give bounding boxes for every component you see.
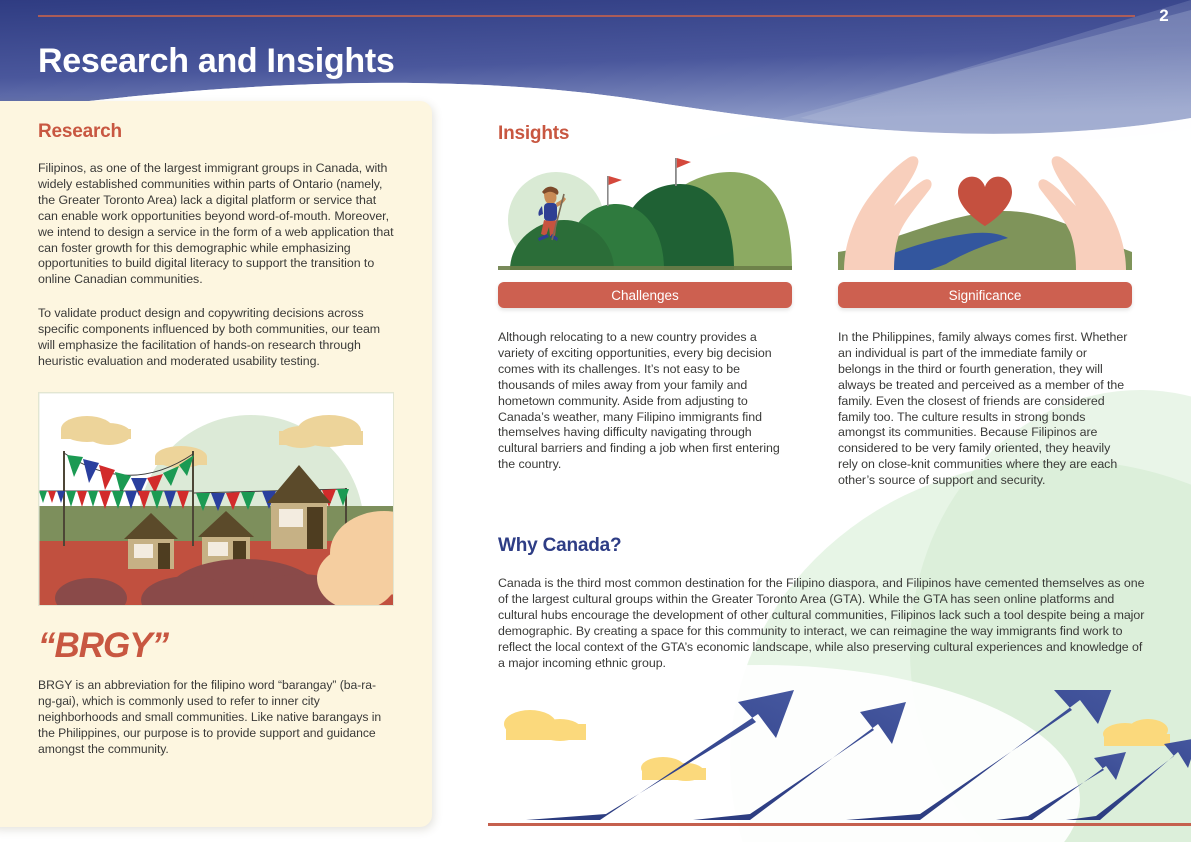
pill-challenges[interactable]: Challenges: [498, 282, 792, 308]
challenges-body: Although relocating to a new country pro…: [498, 330, 792, 473]
brgy-wordmark: “BRGY”: [38, 626, 398, 666]
slide-page: 2 Research and Insights Research Filipin…: [0, 0, 1191, 842]
significance-body: In the Philippines, family always comes …: [838, 330, 1132, 489]
insights-column-significance: Significance In the Philippines, family …: [838, 148, 1132, 489]
brgy-description: BRGY is an abbreviation for the filipino…: [38, 678, 390, 758]
pill-significance[interactable]: Significance: [838, 282, 1132, 308]
page-number: 2: [1159, 6, 1169, 26]
hands-cradling-heart-over-landscape-illustration: [838, 148, 1132, 270]
pill-challenges-label: Challenges: [611, 288, 679, 303]
page-title: Research and Insights: [38, 42, 394, 81]
insights-column-challenges: Challenges Although relocating to a new …: [498, 148, 792, 489]
pill-significance-label: Significance: [949, 288, 1022, 303]
rising-blue-arrows-with-clouds-illustration: [488, 690, 1191, 830]
hiker-climbing-hills-with-flags-illustration: [498, 148, 792, 270]
why-canada-heading: Why Canada?: [498, 535, 621, 557]
research-heading: Research: [38, 121, 398, 143]
insights-heading: Insights: [498, 123, 569, 145]
research-card: Research Filipinos, as one of the larges…: [0, 101, 432, 827]
footer-rule: [488, 823, 1191, 826]
why-canada-body: Canada is the third most common destinat…: [498, 576, 1146, 671]
research-paragraph-1: Filipinos, as one of the largest immigra…: [38, 161, 398, 288]
header-rule: [38, 15, 1135, 17]
insights-columns: Challenges Although relocating to a new …: [498, 148, 1158, 489]
research-paragraph-2: To validate product design and copywriti…: [38, 306, 398, 370]
filipino-village-bunting-illustration: [38, 392, 394, 606]
